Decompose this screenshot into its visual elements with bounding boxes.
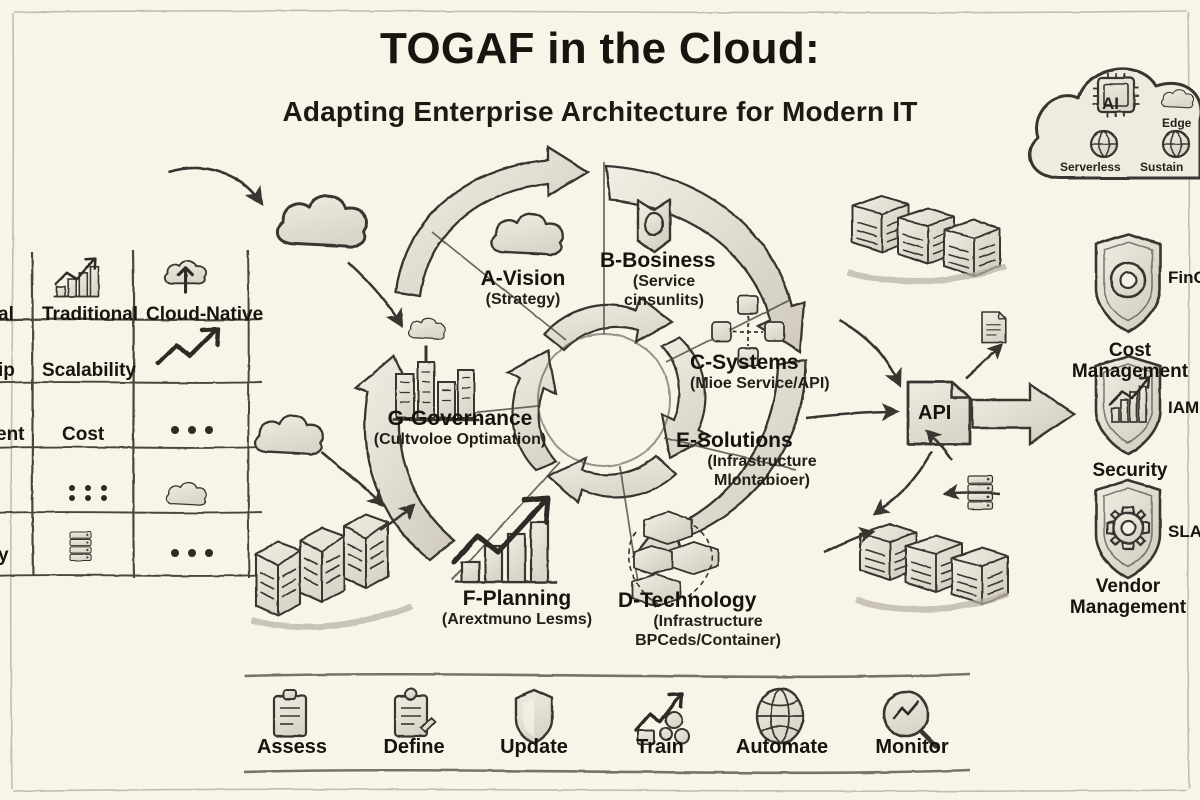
table-cell-traditional: Scalability: [42, 360, 136, 382]
document-icon-right: [982, 312, 1006, 343]
phase-sublabel: (Cultvoloe Optimation): [360, 431, 560, 449]
table-row-label: y: [0, 545, 9, 567]
phase-sublabel: (Arextmuno Lesms): [432, 611, 602, 629]
diagram-canvas: TOGAF in the Cloud: Adapting Enterprise …: [0, 0, 1200, 800]
page-subtitle: Adapting Enterprise Architecture for Mod…: [0, 96, 1200, 128]
table-cell-traditional: Cost: [62, 424, 104, 446]
phase-label: G-Governance: [360, 408, 560, 430]
cycle-phase-d-technology[interactable]: D-Technology (Infrastructure BPCeds/Cont…: [618, 590, 808, 650]
api-node-label: API: [918, 402, 951, 425]
table-column-header-cloud-native: Cloud-Native: [146, 304, 263, 326]
cycle-phase-b-business[interactable]: B-Bosiness (Service cinsunlits): [600, 250, 760, 310]
phase-sublabel-2: cinsunlits): [600, 292, 728, 310]
phase-label: A-Vision: [448, 268, 598, 290]
leaf-globe-icon: [1163, 131, 1189, 157]
phase-sublabel: (Infrastructure: [676, 453, 848, 471]
process-step-define[interactable]: Define: [372, 736, 456, 759]
process-step-automate[interactable]: Automate: [724, 736, 840, 759]
table-header-row-label: al: [0, 304, 14, 326]
ellipsis-cell-2: [171, 549, 213, 557]
table-column-header-traditional: Traditional: [42, 304, 138, 326]
phase-label: C-Systems: [690, 352, 870, 374]
phase-sublabel: (Strategy): [448, 291, 598, 309]
phase-label: B-Bosiness: [600, 250, 760, 272]
trend-label-sustain: Sustain: [1140, 160, 1183, 174]
phase-sublabel-2: BPCeds/Container): [618, 632, 798, 650]
cycle-phase-f-planning[interactable]: F-Planning (Arextmuno Lesms): [432, 588, 602, 629]
process-step-update[interactable]: Update: [492, 736, 576, 759]
ellipsis-cell-1: [171, 426, 213, 434]
phase-label: F-Planning: [432, 588, 602, 610]
phase-sublabel: (Mioe Service/API): [690, 375, 870, 393]
pillar-tag-sla: SLA: [1168, 522, 1200, 542]
phase-sublabel: (Service: [600, 273, 728, 291]
pillar-label-security: Security: [1060, 460, 1200, 481]
cycle-phase-a-vision[interactable]: A-Vision (Strategy): [448, 268, 598, 309]
trend-label-ai: AI: [1102, 94, 1119, 114]
pillar-label-vendor-management: Vendor Management: [1052, 576, 1200, 619]
phase-label: D-Technology: [618, 590, 808, 612]
pillar-tag-finops: FinO: [1168, 268, 1200, 288]
pillar-tag-iam: IAM: [1168, 398, 1199, 418]
phase-sublabel: (Infrastructure: [618, 613, 798, 631]
cycle-phase-c-systems[interactable]: C-Systems (Mioe Service/API): [690, 352, 870, 393]
page-title: TOGAF in the Cloud:: [0, 24, 1200, 74]
cycle-phase-e-solutions[interactable]: E-Solutions (Infrastructure Mlontabioer): [676, 430, 856, 490]
globe-small-icon: [1091, 131, 1117, 157]
trend-label-serverless: Serverless: [1060, 160, 1121, 174]
clipboard-icon: [274, 690, 306, 736]
phase-label: E-Solutions: [676, 430, 856, 452]
process-step-train[interactable]: Train: [618, 736, 702, 759]
trend-label-edge: Edge: [1162, 116, 1191, 130]
table-row-label: ip: [0, 360, 15, 382]
table-row-label: ent: [0, 424, 25, 446]
phase-sublabel-2: Mlontabioer): [676, 472, 848, 490]
cycle-phase-g-governance[interactable]: G-Governance (Cultvoloe Optimation): [360, 408, 560, 449]
pillar-label-cost-management: Cost Management: [1060, 340, 1200, 383]
process-step-assess[interactable]: Assess: [250, 736, 334, 759]
globe-icon: [757, 689, 803, 743]
process-step-monitor[interactable]: Monitor: [862, 736, 962, 759]
